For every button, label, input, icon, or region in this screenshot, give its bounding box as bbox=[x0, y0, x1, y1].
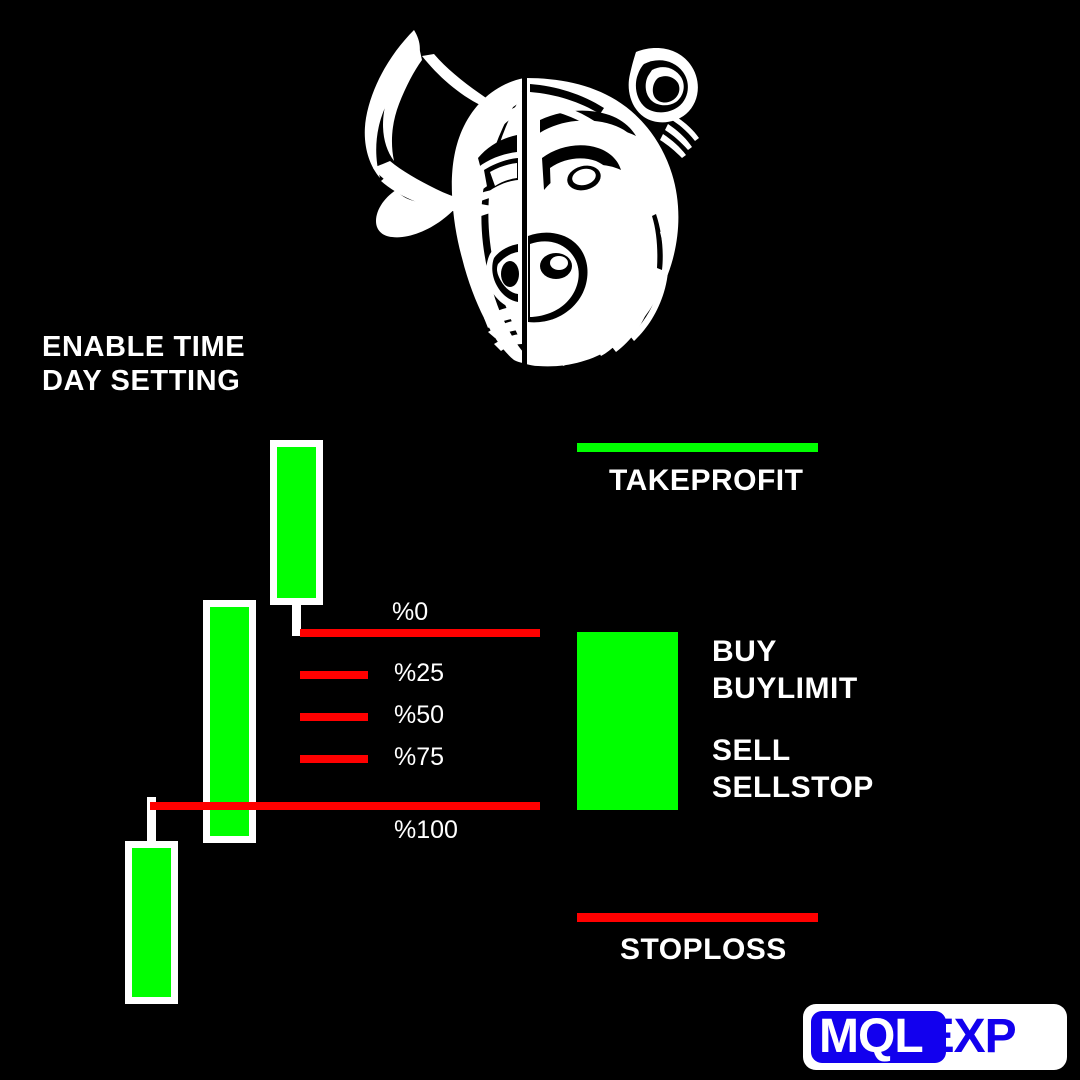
candle-3-body bbox=[270, 440, 323, 605]
sellstop-label: SELLSTOP bbox=[712, 770, 874, 807]
takeprofit-label: TAKEPROFIT bbox=[609, 464, 803, 498]
level-label-0: %0 bbox=[392, 598, 428, 627]
logo-text-exp: EXP bbox=[923, 1013, 1016, 1061]
level-line-50 bbox=[300, 713, 368, 721]
stoploss-label: STOPLOSS bbox=[620, 933, 787, 967]
level-label-50: %50 bbox=[394, 701, 444, 730]
level-line-100 bbox=[150, 802, 540, 810]
sell-label: SELL bbox=[712, 733, 874, 770]
buy-label: BUY bbox=[712, 634, 858, 671]
order-zone-swatch bbox=[577, 632, 678, 810]
sell-order-labels: SELL SELLSTOP bbox=[712, 733, 874, 806]
infographic-canvas: ENABLE TIME DAY SETTING %0 %25 %50 %75 %… bbox=[0, 0, 1080, 1080]
candle-1-body bbox=[125, 841, 178, 1004]
level-label-100: %100 bbox=[394, 816, 458, 845]
logo-wordmark: MQLEXP bbox=[803, 1004, 1067, 1070]
logo-text-mql: MQL bbox=[819, 1013, 923, 1061]
stoploss-line bbox=[577, 913, 818, 922]
buylimit-label: BUYLIMIT bbox=[712, 671, 858, 708]
takeprofit-line bbox=[577, 443, 818, 452]
level-label-75: %75 bbox=[394, 743, 444, 772]
headline-line-2: DAY SETTING bbox=[42, 364, 462, 398]
level-line-25 bbox=[300, 671, 368, 679]
headline-line-1: ENABLE TIME bbox=[42, 330, 462, 364]
page-title: ENABLE TIME DAY SETTING bbox=[42, 330, 462, 398]
level-line-0 bbox=[300, 629, 540, 637]
level-label-25: %25 bbox=[394, 659, 444, 688]
bull-bear-logo-icon bbox=[318, 18, 722, 374]
mqlexp-logo[interactable]: MQLEXP bbox=[803, 1004, 1067, 1070]
level-line-75 bbox=[300, 755, 368, 763]
buy-order-labels: BUY BUYLIMIT bbox=[712, 634, 858, 707]
